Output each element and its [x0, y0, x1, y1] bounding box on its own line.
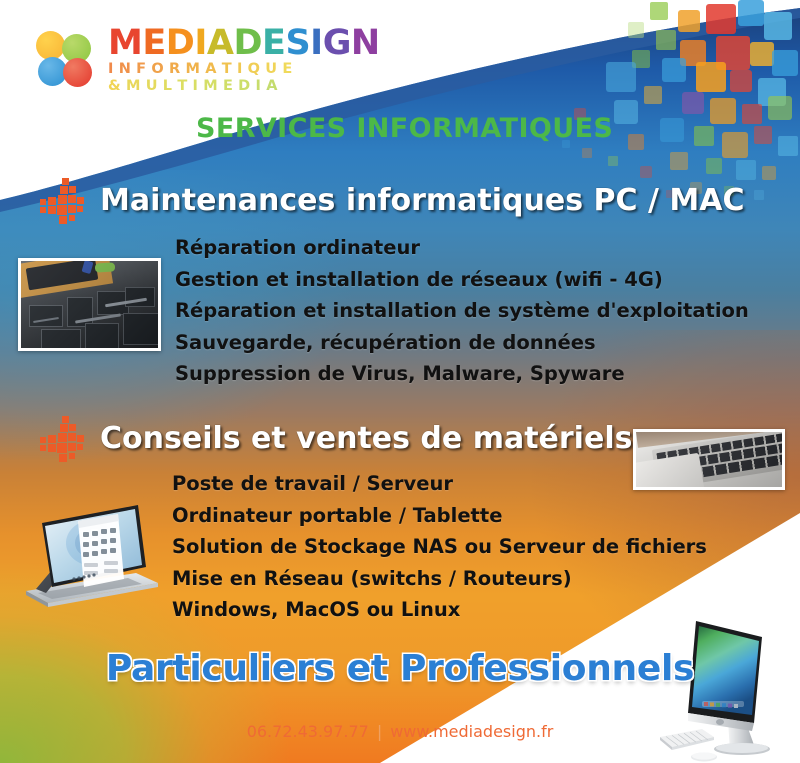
section-title: Maintenances informatiques PC / MAC — [100, 183, 744, 218]
brand-logo: MEDIADESIGN INFORMATIQUE & MULTIMEDIA — [36, 26, 380, 93]
list-item: Windows, MacOS ou Linux — [172, 600, 707, 620]
poster-canvas: MEDIADESIGN INFORMATIQUE & MULTIMEDIA SE… — [0, 0, 800, 763]
footer-contact: 06.72.43.97.77|www.mediadesign.fr — [0, 722, 800, 741]
section-maintenance: Maintenances informatiques PC / MAC — [40, 178, 744, 222]
list-item: Sauvegarde, récupération de données — [175, 333, 749, 353]
sales-service-list: Poste de travail / Serveur Ordinateur po… — [172, 474, 707, 632]
list-item: Solution de Stockage NAS ou Serveur de f… — [172, 537, 707, 557]
section-heading-row: Conseils et ventes de matériels — [40, 416, 632, 460]
brand-tagline-1: INFORMATIQUE — [108, 62, 380, 77]
section-sales: Conseils et ventes de matériels — [40, 416, 632, 460]
orange-pixel-plus-icon — [40, 416, 86, 460]
orange-pixel-plus-icon — [40, 178, 86, 222]
maintenance-service-list: Réparation ordinateur Gestion et install… — [175, 238, 749, 396]
list-item: Gestion et installation de réseaux (wifi… — [175, 270, 749, 290]
list-item: Ordinateur portable / Tablette — [172, 506, 707, 526]
section-title: Conseils et ventes de matériels — [100, 421, 632, 456]
list-item: Réparation et installation de système d'… — [175, 301, 749, 321]
brand-tagline-2: & MULTIMEDIA — [108, 79, 380, 94]
list-item: Réparation ordinateur — [175, 238, 749, 258]
contact-separator: | — [377, 722, 382, 741]
section-heading-row: Maintenances informatiques PC / MAC — [40, 178, 744, 222]
page-title: SERVICES INFORMATIQUES — [196, 113, 613, 144]
four-petal-flower-icon — [36, 31, 94, 87]
list-item: Poste de travail / Serveur — [172, 474, 707, 494]
footer-headline: Particuliers et Professionnels — [0, 648, 800, 689]
petal-red-icon — [63, 58, 92, 87]
website-link[interactable]: www.mediadesign.fr — [390, 722, 553, 741]
list-item: Suppression de Virus, Malware, Spyware — [175, 364, 749, 384]
phone-number[interactable]: 06.72.43.97.77 — [247, 722, 369, 741]
petal-yellow-icon — [36, 31, 65, 60]
brand-name: MEDIADESIGN — [108, 26, 380, 61]
imac-desktop-photo — [658, 617, 798, 763]
list-item: Mise en Réseau (switchs / Routeurs) — [172, 569, 707, 589]
surface-laptop-studio-photo — [18, 487, 164, 614]
macbook-keyboard-photo — [633, 429, 785, 490]
laptop-repair-photo — [18, 258, 161, 351]
